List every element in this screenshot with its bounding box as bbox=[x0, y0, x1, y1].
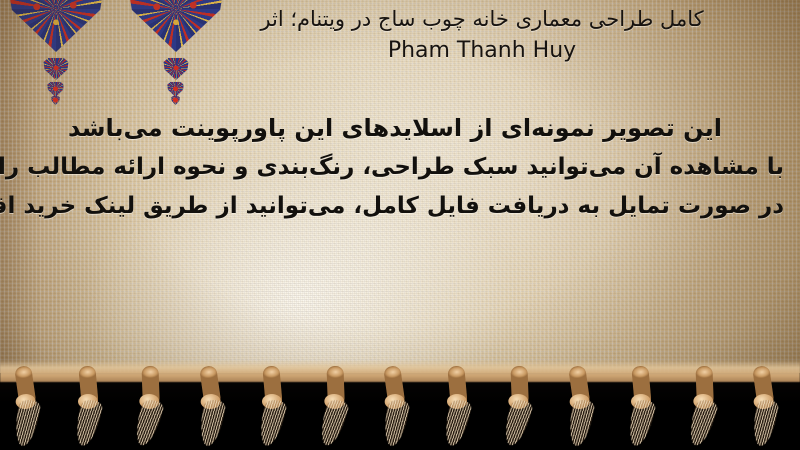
tassel bbox=[748, 365, 782, 450]
body-line-2: با مشاهده آن می‌توانید سبک طراحی، رنگ‌بن… bbox=[6, 148, 784, 187]
tassel-brush bbox=[501, 399, 535, 447]
tassel bbox=[194, 365, 228, 450]
body-line-3: در صورت تمایل به دریافت فایل کامل، می‌تو… bbox=[6, 187, 784, 226]
tassel-brush bbox=[72, 399, 103, 447]
tassel-brush bbox=[441, 399, 472, 447]
tassel-brush bbox=[256, 399, 287, 447]
tassel bbox=[564, 365, 598, 450]
tassel-brush bbox=[566, 400, 595, 447]
slide-canvas: کامل طراحی معماری خانه چوب ساج در ویتنام… bbox=[0, 0, 800, 450]
tassel-brush bbox=[131, 399, 165, 447]
carpet-fringe bbox=[0, 340, 800, 450]
tassel-brush bbox=[381, 400, 410, 447]
tassel bbox=[258, 366, 288, 450]
tassel bbox=[133, 365, 167, 450]
slide-title-persian: کامل طراحی معماری خانه چوب ساج در ویتنام… bbox=[182, 6, 782, 34]
tassel-brush bbox=[685, 399, 719, 447]
tassel-brush bbox=[197, 400, 226, 447]
slide-title-author: Pham Thanh Huy bbox=[182, 36, 782, 65]
tassel bbox=[627, 366, 657, 450]
tassel-brush bbox=[626, 399, 657, 447]
tassel bbox=[687, 365, 721, 450]
text-layer: کامل طراحی معماری خانه چوب ساج در ویتنام… bbox=[0, 0, 800, 380]
tassel bbox=[10, 365, 44, 450]
tassel bbox=[502, 365, 536, 450]
slide-title-block: کامل طراحی معماری خانه چوب ساج در ویتنام… bbox=[182, 6, 782, 65]
tassel-brush bbox=[12, 400, 41, 447]
tassel bbox=[379, 365, 413, 450]
tassel bbox=[443, 366, 473, 450]
tassel bbox=[74, 366, 104, 450]
slide-body-block: این تصویر نمونه‌ای از اسلایدهای این پاور… bbox=[6, 108, 784, 226]
body-line-1: این تصویر نمونه‌ای از اسلایدهای این پاور… bbox=[6, 108, 784, 148]
tassel-brush bbox=[316, 399, 350, 447]
tassel bbox=[318, 365, 352, 450]
